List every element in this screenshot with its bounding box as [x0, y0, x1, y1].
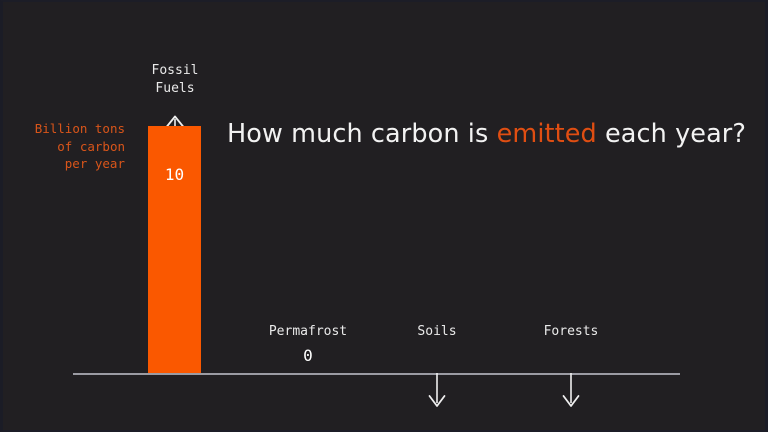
category-label-forests: Forests	[515, 324, 627, 339]
y-axis-caption: Billion tons of carbon per year	[3, 120, 125, 173]
category-label-permafrost: Permafrost	[246, 324, 370, 339]
slide-canvas: How much carbon is emitted each year? Bi…	[0, 0, 768, 432]
axis-baseline	[73, 373, 680, 375]
arrow-down-icon-forests	[556, 373, 586, 409]
bar-label-fossil-fuels-line2: Fuels	[155, 81, 194, 96]
title-text-after: each year?	[597, 119, 746, 149]
bar-label-fossil-fuels: Fossil Fuels	[129, 62, 221, 98]
title-highlight-emitted: emitted	[497, 119, 597, 149]
title-text-before: How much carbon is	[227, 119, 497, 149]
bar-label-fossil-fuels-line1: Fossil	[152, 63, 199, 78]
page-title: How much carbon is emitted each year?	[227, 122, 746, 148]
bar-fossil-fuels	[148, 126, 201, 373]
category-label-soils: Soils	[385, 324, 489, 339]
category-value-permafrost: 0	[246, 346, 370, 365]
bar-value-fossil-fuels: 10	[148, 165, 201, 184]
arrow-down-icon-soils	[422, 373, 452, 409]
